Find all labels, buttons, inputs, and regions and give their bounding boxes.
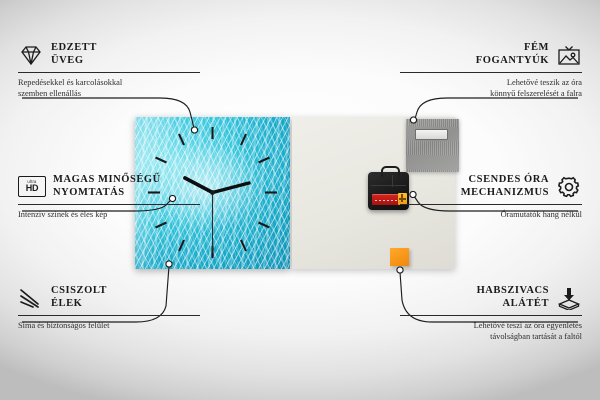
callout-silent-mechanism[interactable]: CSENDES ÓRA MECHANIZMUS Óramutatók hang … — [400, 174, 582, 220]
callout-subtitle: Repedésekkel és karcolásokkal szemben el… — [18, 77, 200, 100]
callout-rule — [400, 204, 582, 205]
arrow-down-pad-icon — [556, 286, 582, 310]
picture-frame-hanger-icon — [556, 43, 582, 67]
callout-subtitle: Sima és biztonságos felület — [18, 320, 200, 331]
ultra-hd-icon: ultra HD — [18, 176, 46, 197]
foam-spacer-pad — [390, 248, 409, 266]
callout-polished-edges[interactable]: CSISZOLT ÉLEK Sima és biztonságos felüle… — [18, 285, 200, 331]
callout-rule — [400, 315, 582, 316]
callout-rule — [18, 204, 200, 205]
callout-metal-handles[interactable]: FÉM FOGANTYÚK Lehetővé teszik az óra kön… — [400, 42, 582, 99]
callout-header: ultra HD MAGAS MINŐSÉGŰ NYOMTATÁS — [18, 174, 200, 200]
callout-header: EDZETT ÜVEG — [18, 42, 200, 68]
ultra-hd-icon-big-label: HD — [26, 184, 39, 193]
callout-title: EDZETT ÜVEG — [51, 42, 200, 68]
callout-tempered-glass[interactable]: EDZETT ÜVEG Repedésekkel és karcolásokka… — [18, 42, 200, 99]
diamond-icon — [18, 43, 44, 67]
callout-high-quality-print[interactable]: ultra HD MAGAS MINŐSÉGŰ NYOMTATÁS Intenz… — [18, 174, 200, 220]
callout-header: CSISZOLT ÉLEK — [18, 285, 200, 311]
callout-title: MAGAS MINŐSÉGŰ NYOMTATÁS — [53, 174, 200, 200]
callout-title: HABSZIVACS ALÁTÉT — [400, 285, 549, 311]
callout-subtitle: Lehetővé teszi az óra egyenletes távolsá… — [400, 320, 582, 343]
callout-foam-pad[interactable]: HABSZIVACS ALÁTÉT Lehetővé teszi az óra … — [400, 285, 582, 342]
callout-subtitle: Óramutatók hang nélkül — [400, 209, 582, 220]
metal-hanger-plate — [406, 119, 459, 172]
callout-header: HABSZIVACS ALÁTÉT — [400, 285, 582, 311]
callout-rule — [18, 72, 200, 73]
callout-title: CSISZOLT ÉLEK — [51, 285, 200, 311]
callout-header: CSENDES ÓRA MECHANIZMUS — [400, 174, 582, 200]
callout-rule — [18, 315, 200, 316]
callout-header: FÉM FOGANTYÚK — [400, 42, 582, 68]
callout-rule — [400, 72, 582, 73]
callout-subtitle: Intenzív színek és éles kép — [18, 209, 200, 220]
callout-title: CSENDES ÓRA MECHANIZMUS — [400, 174, 549, 200]
gear-icon — [556, 175, 582, 199]
diagonal-lines-icon — [18, 286, 44, 310]
infographic-canvas: EDZETT ÜVEG Repedésekkel és karcolásokka… — [0, 0, 600, 400]
hanger-slot — [415, 129, 448, 140]
mechanism-hanging-loop — [381, 166, 400, 177]
mechanism-seam-vertical — [392, 175, 393, 187]
callout-subtitle: Lehetővé teszik az óra könnyű felszerelé… — [400, 77, 582, 100]
callout-title: FÉM FOGANTYÚK — [400, 42, 549, 68]
